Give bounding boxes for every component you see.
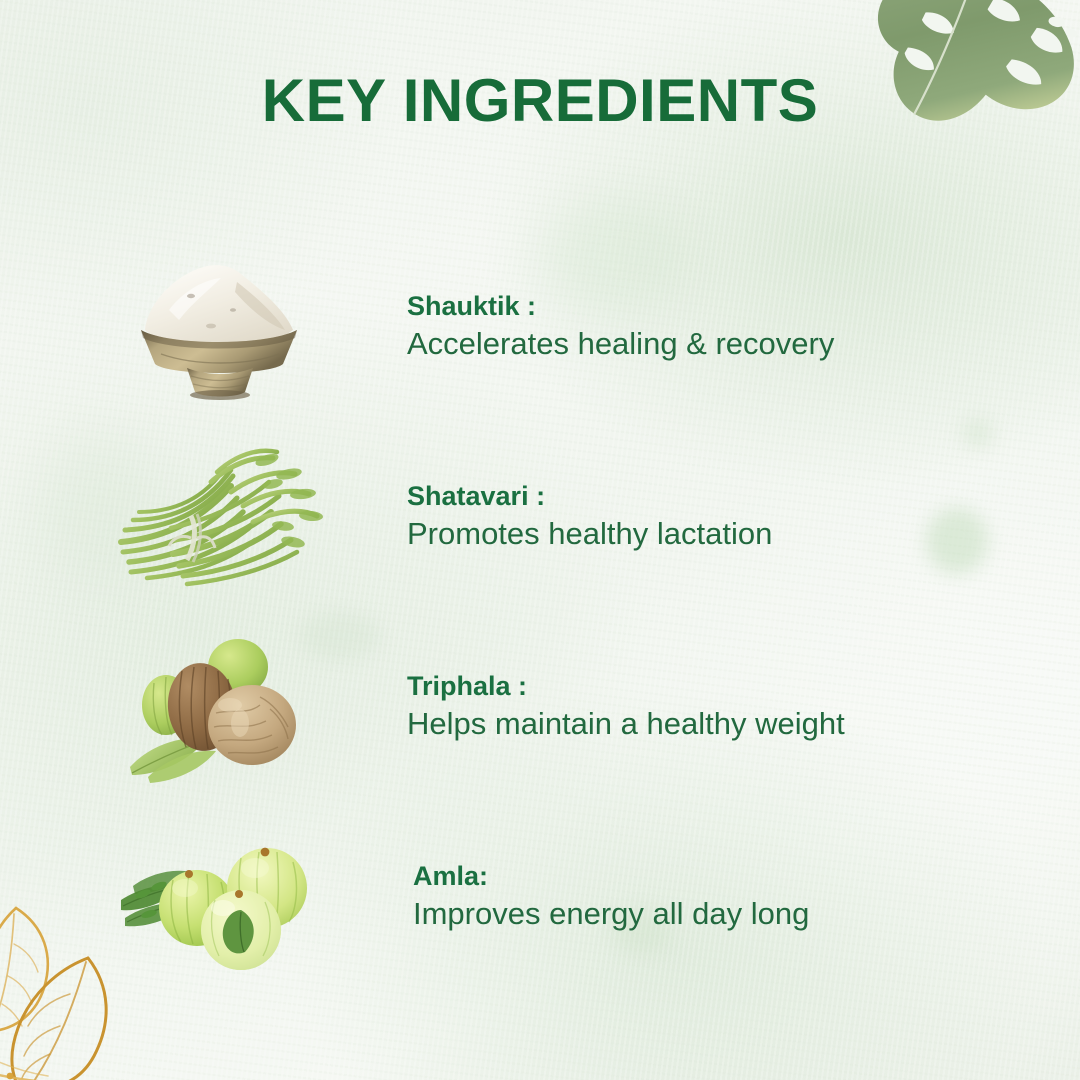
triphala-fruits-image <box>105 627 335 787</box>
ingredient-copy: Shatavari : Promotes healthy lactation <box>397 482 772 552</box>
list-item: Amla: Improves energy all day long <box>0 802 1080 992</box>
ingredient-description: Accelerates healing & recovery <box>407 327 834 362</box>
amla-fruits-image <box>105 817 335 977</box>
ingredient-name: Shauktik : <box>407 292 834 322</box>
ingredient-name: Triphala : <box>407 672 845 702</box>
page-title: KEY INGREDIENTS <box>0 66 1080 135</box>
key-ingredients-poster: KEY INGREDIENTS <box>0 0 1080 1080</box>
shatavari-bundle-image <box>105 437 335 597</box>
ingredient-copy: Amla: Improves energy all day long <box>403 862 809 932</box>
bowl-of-white-powder-image <box>105 247 335 407</box>
ingredient-description: Helps maintain a healthy weight <box>407 707 845 742</box>
ingredient-copy: Triphala : Helps maintain a healthy weig… <box>397 672 845 742</box>
list-item: Triphala : Helps maintain a healthy weig… <box>0 612 1080 802</box>
ingredient-name: Amla: <box>413 862 809 892</box>
ingredient-description: Promotes healthy lactation <box>407 517 772 552</box>
list-item: Shatavari : Promotes healthy lactation <box>0 422 1080 612</box>
ingredient-copy: Shauktik : Accelerates healing & recover… <box>397 292 834 362</box>
list-item: Shauktik : Accelerates healing & recover… <box>0 232 1080 422</box>
ingredient-description: Improves energy all day long <box>413 897 809 932</box>
ingredient-name: Shatavari : <box>407 482 772 512</box>
ingredients-list: Shauktik : Accelerates healing & recover… <box>0 232 1080 992</box>
